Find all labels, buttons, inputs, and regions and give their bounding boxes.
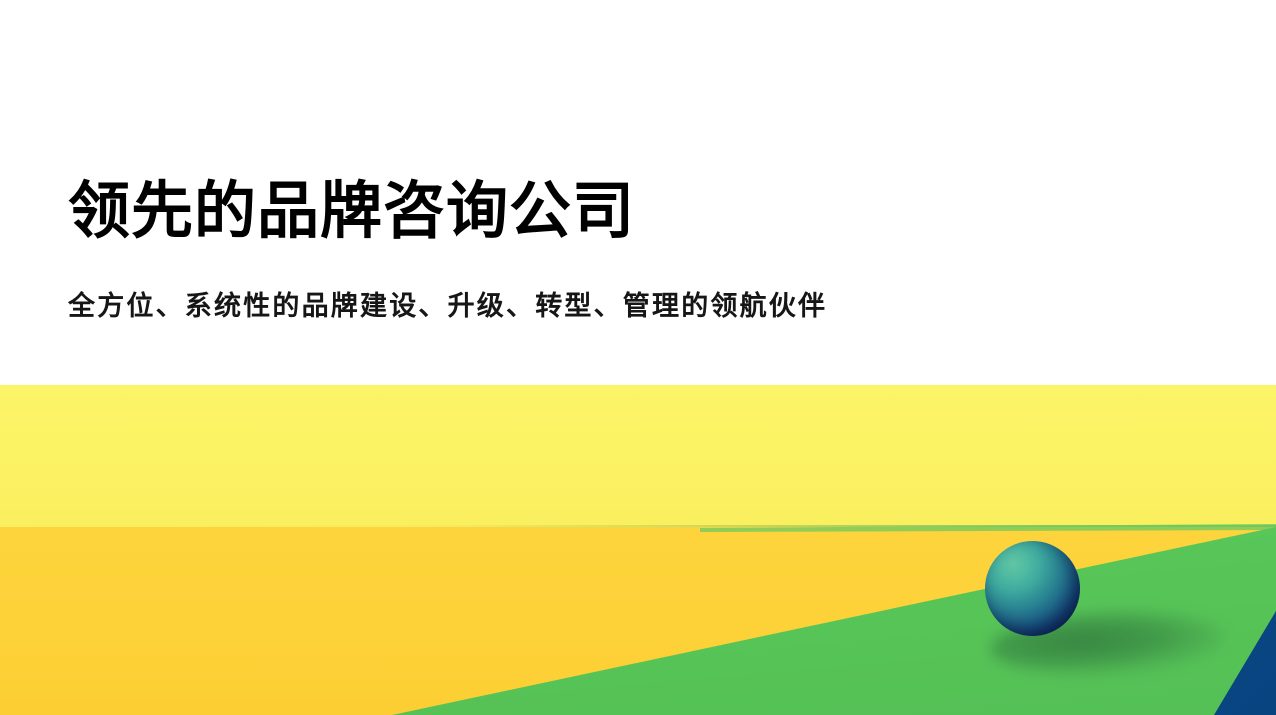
- gradient-sphere-graphic: [985, 541, 1080, 636]
- light-yellow-band: [0, 385, 1276, 527]
- page-subtitle: 全方位、系统性的品牌建设、升级、转型、管理的领航伙伴: [68, 245, 1168, 323]
- title-slide: 领先的品牌咨询公司 全方位、系统性的品牌建设、升级、转型、管理的领航伙伴: [0, 0, 1276, 715]
- title-text-block: 领先的品牌咨询公司 全方位、系统性的品牌建设、升级、转型、管理的领航伙伴: [68, 178, 1168, 323]
- page-title: 领先的品牌咨询公司: [68, 178, 1168, 245]
